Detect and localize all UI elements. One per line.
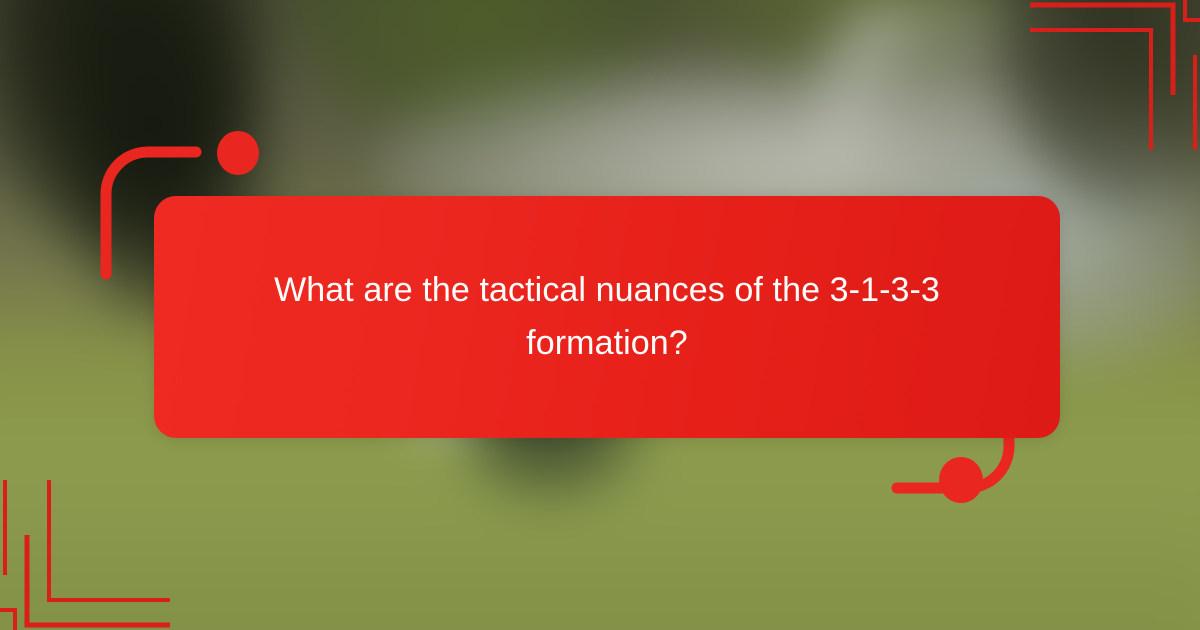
circle-dot-bottom-right-icon: [939, 457, 983, 503]
circle-dot-top-left-icon: [217, 131, 259, 175]
question-title: What are the tactical nuances of the 3-1…: [199, 264, 1015, 369]
question-card: What are the tactical nuances of the 3-1…: [154, 196, 1060, 438]
social-card-canvas: What are the tactical nuances of the 3-1…: [0, 0, 1200, 630]
